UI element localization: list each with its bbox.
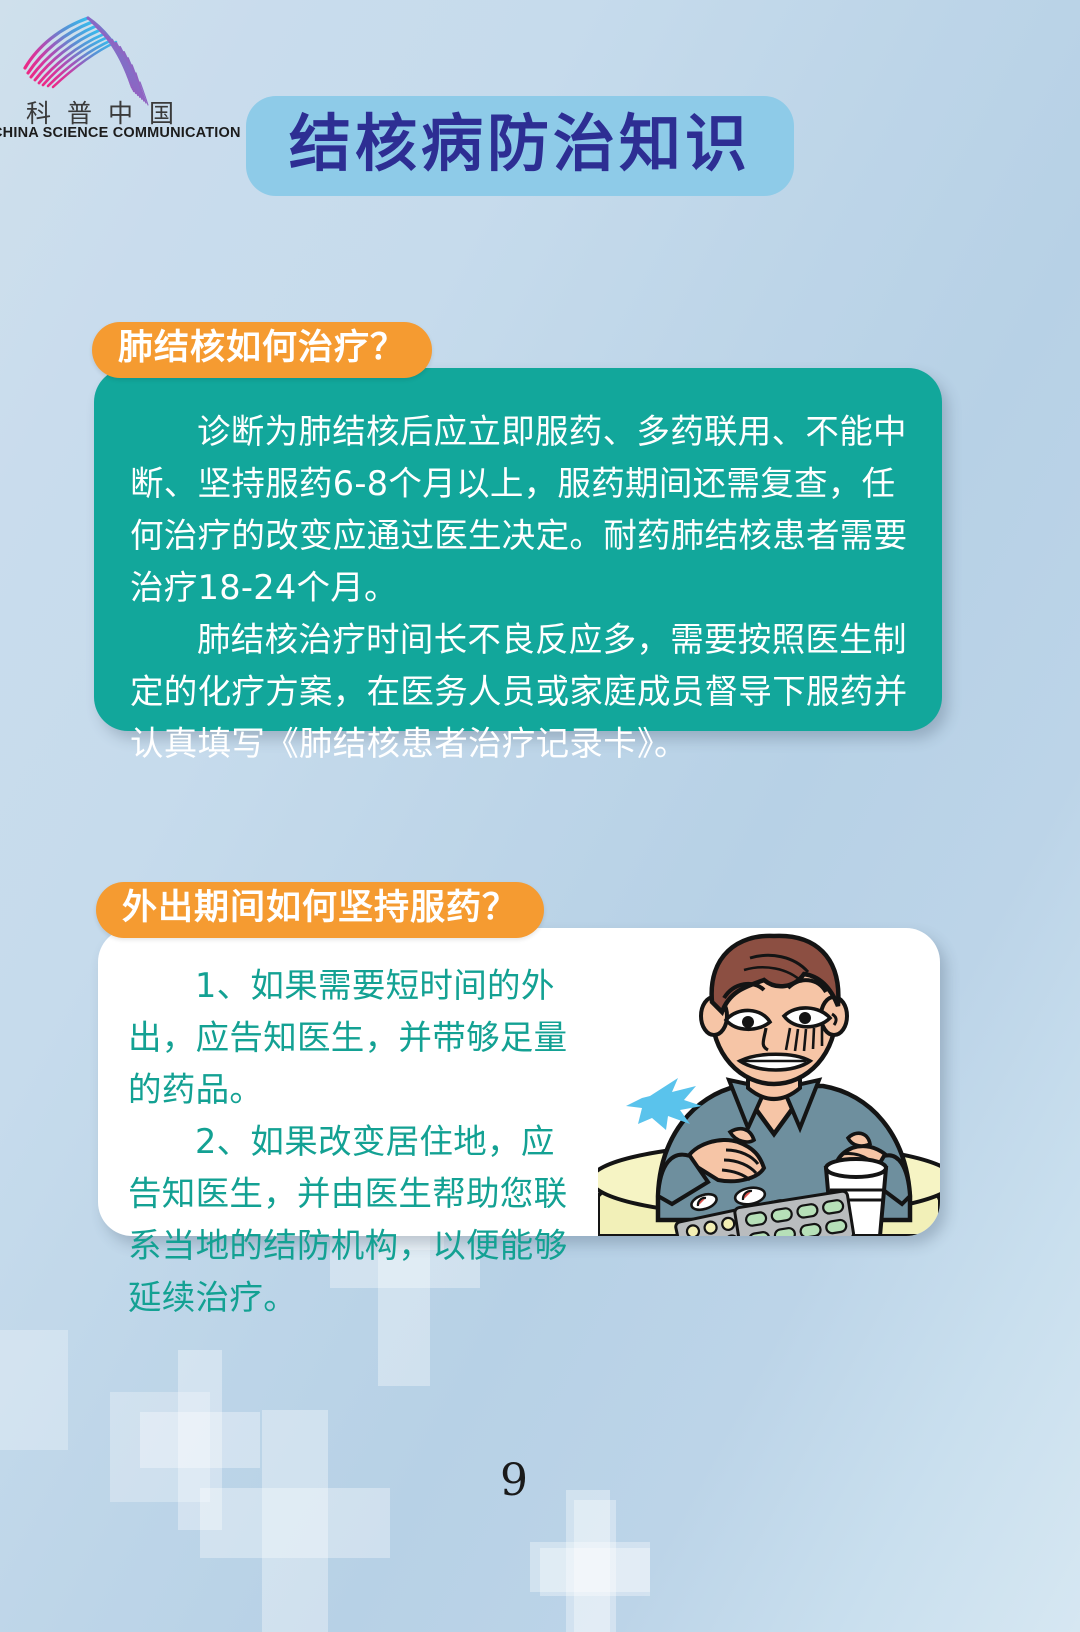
section-badge-travel: 外出期间如何坚持服药？ — [96, 882, 544, 938]
patient-taking-medicine-illustration — [598, 928, 940, 1236]
decor-square — [0, 1330, 68, 1450]
page-number: 9 — [500, 1455, 528, 1506]
paragraph: 肺结核治疗时间长不良反应多，需要按照医生制定的化疗方案，在医务人员或家庭成员督导… — [130, 614, 912, 770]
page-title: 结核病防治知识 — [289, 113, 751, 179]
decor-cross — [540, 1500, 650, 1632]
logo: 科普中国 CHINA SCIENCE COMMUNICATION — [0, 2, 228, 142]
section-badge-treatment: 肺结核如何治疗？ — [92, 322, 432, 378]
section-card-travel: 1、如果需要短时间的外出，应告知医生，并带够足量的药品。 2、如果改变居住地，应… — [98, 928, 940, 1236]
decor-cross — [530, 1490, 650, 1632]
section-badge-label: 外出期间如何坚持服药？ — [122, 891, 518, 929]
page-title-badge: 结核病防治知识 — [246, 96, 794, 196]
section-badge-label: 肺结核如何治疗？ — [118, 331, 406, 369]
paragraph: 诊断为肺结核后应立即服药、多药联用、不能中断、坚持服药6-8个月以上，服药期间还… — [130, 406, 912, 614]
decor-cross — [140, 1350, 260, 1530]
paragraph: 2、如果改变居住地，应告知医生，并由医生帮助您联系当地的结防机构，以便能够延续治… — [128, 1116, 578, 1324]
section-body-treatment: 诊断为肺结核后应立即服药、多药联用、不能中断、坚持服药6-8个月以上，服药期间还… — [94, 368, 942, 770]
paragraph: 1、如果需要短时间的外出，应告知医生，并带够足量的药品。 — [128, 960, 578, 1116]
poster-page: 科普中国 CHINA SCIENCE COMMUNICATION 结核病防治知识… — [0, 0, 1080, 1632]
section-card-treatment: 诊断为肺结核后应立即服药、多药联用、不能中断、坚持服药6-8个月以上，服药期间还… — [94, 368, 942, 731]
logo-english-text: CHINA SCIENCE COMMUNICATION — [0, 125, 220, 141]
decor-cross — [200, 1410, 390, 1632]
section-body-travel: 1、如果需要短时间的外出，应告知医生，并带够足量的药品。 2、如果改变居住地，应… — [98, 928, 578, 1324]
decor-square — [110, 1392, 210, 1502]
